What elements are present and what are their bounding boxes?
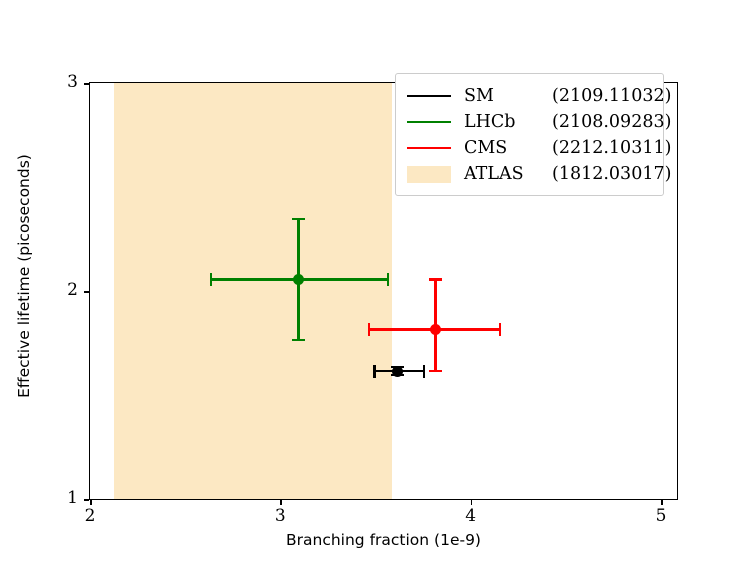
legend-label-lhcb: LHCb	[452, 112, 552, 132]
legend-reference-lhcb: (2108.09283)	[552, 112, 671, 132]
y-tick-2	[84, 291, 89, 293]
errorbar-cap-xhigh-lhcb	[387, 273, 389, 286]
x-tick-label-5: 5	[641, 506, 681, 526]
errorbar-cap-ylow-lhcb	[292, 339, 305, 341]
legend-entry-sm: SM(2109.11032)	[406, 83, 653, 109]
atlas-band	[114, 82, 392, 500]
legend-swatch-cms	[407, 147, 451, 149]
legend-reference-atlas: (1812.03017)	[552, 164, 671, 184]
errorbar-cap-xhigh-sm	[423, 365, 425, 378]
x-tick-5	[661, 500, 663, 505]
marker-cms	[430, 324, 441, 335]
errorbar-cap-xlow-lhcb	[210, 273, 212, 286]
y-tick-label-2: 2	[44, 280, 78, 300]
errorbar-cap-xlow-cms	[368, 323, 370, 336]
legend-entry-cms: CMS(2212.10311)	[406, 135, 653, 161]
y-axis-label: Effective lifetime (picoseconds)	[15, 0, 33, 576]
errorbar-cap-yhigh-cms	[429, 278, 442, 280]
legend-key-cms	[406, 135, 452, 161]
legend-swatch-lhcb	[407, 121, 451, 123]
legend-reference-cms: (2212.10311)	[552, 138, 671, 158]
x-tick-4	[471, 500, 473, 505]
figure-canvas: 2345 123 Branching fraction (1e-9) Effec…	[0, 0, 747, 560]
marker-lhcb	[293, 274, 304, 285]
errorbar-cap-yhigh-lhcb	[292, 218, 305, 220]
errorbar-cap-xlow-sm	[373, 365, 375, 378]
errorbar-cap-ylow-cms	[429, 370, 442, 372]
errorbar-cap-xhigh-cms	[499, 323, 501, 336]
y-tick-label-1: 1	[44, 488, 78, 508]
legend-key-atlas	[406, 161, 452, 187]
y-tick-1	[84, 499, 89, 501]
legend-key-lhcb	[406, 109, 452, 135]
legend-label-atlas: ATLAS	[452, 164, 552, 184]
legend-label-cms: CMS	[452, 138, 552, 158]
x-tick-label-3: 3	[260, 506, 300, 526]
y-tick-3	[84, 83, 89, 85]
legend: SM(2109.11032)LHCb(2108.09283)CMS(2212.1…	[395, 73, 664, 196]
legend-key-sm	[406, 83, 452, 109]
x-axis-label: Branching fraction (1e-9)	[89, 531, 678, 549]
legend-swatch-sm	[407, 95, 451, 97]
x-tick-label-4: 4	[451, 506, 491, 526]
x-tick-label-2: 2	[70, 506, 110, 526]
legend-label-sm: SM	[452, 86, 552, 106]
legend-reference-sm: (2109.11032)	[552, 86, 671, 106]
x-tick-2	[90, 500, 92, 505]
legend-entry-lhcb: LHCb(2108.09283)	[406, 109, 653, 135]
legend-swatch-atlas	[407, 166, 451, 183]
legend-entry-atlas: ATLAS(1812.03017)	[406, 161, 653, 187]
x-tick-3	[280, 500, 282, 505]
y-tick-label-3: 3	[44, 72, 78, 92]
marker-sm	[392, 366, 403, 377]
